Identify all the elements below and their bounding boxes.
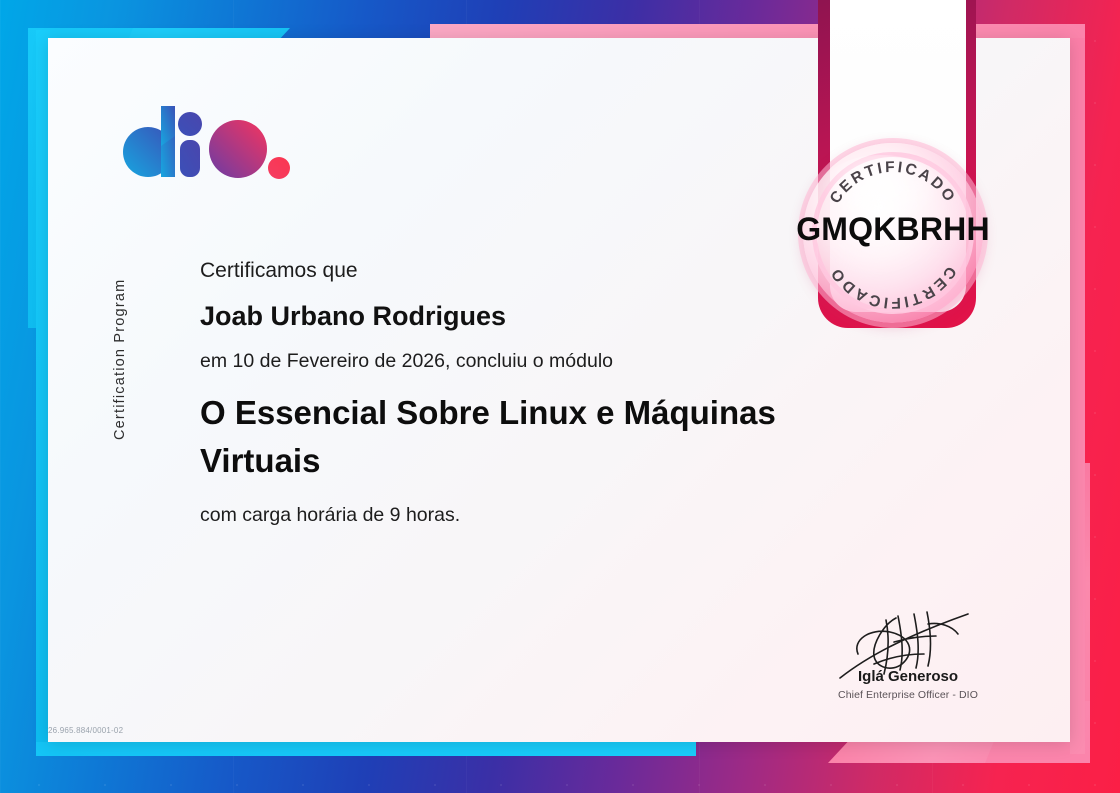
course-title: O Essencial Sobre Linux e Máquinas Virtu… <box>200 389 800 485</box>
frame-band-bottom-left <box>36 742 696 756</box>
completion-date-line: em 10 de Fevereiro de 2026, concluiu o m… <box>200 349 890 373</box>
workload-line: com carga horária de 9 horas. <box>200 503 890 527</box>
signature-block: Iglá Generoso Chief Enterprise Officer -… <box>818 606 998 701</box>
cnpj-text: 26.965.884/0001-02 <box>48 726 123 735</box>
signature-title: Chief Enterprise Officer - DIO <box>818 689 998 701</box>
seal-arc-top-text: CERTIFICADO <box>827 159 959 207</box>
intro-text: Certificamos que <box>200 258 890 284</box>
side-label-text: Certification Program <box>112 279 128 440</box>
seal-arc-bottom-text: CERTIFICADO <box>827 263 959 311</box>
dio-logo <box>116 98 292 190</box>
frame-band-left <box>36 30 50 756</box>
signature-name: Iglá Generoso <box>818 668 998 685</box>
seal-code: GMQKBRHH <box>785 211 1001 248</box>
frame-band-right <box>1070 38 1085 754</box>
certificate-stage: Certification Program Certificamos que J… <box>0 0 1120 793</box>
frame-band-top-right <box>430 24 1085 38</box>
recipient-name: Joab Urbano Rodrigues <box>200 300 890 332</box>
certificate-seal: CERTIFICADO CERTIFICADO GMQKBRHH <box>803 143 983 323</box>
certificate-body: Certificamos que Joab Urbano Rodrigues e… <box>200 258 890 527</box>
